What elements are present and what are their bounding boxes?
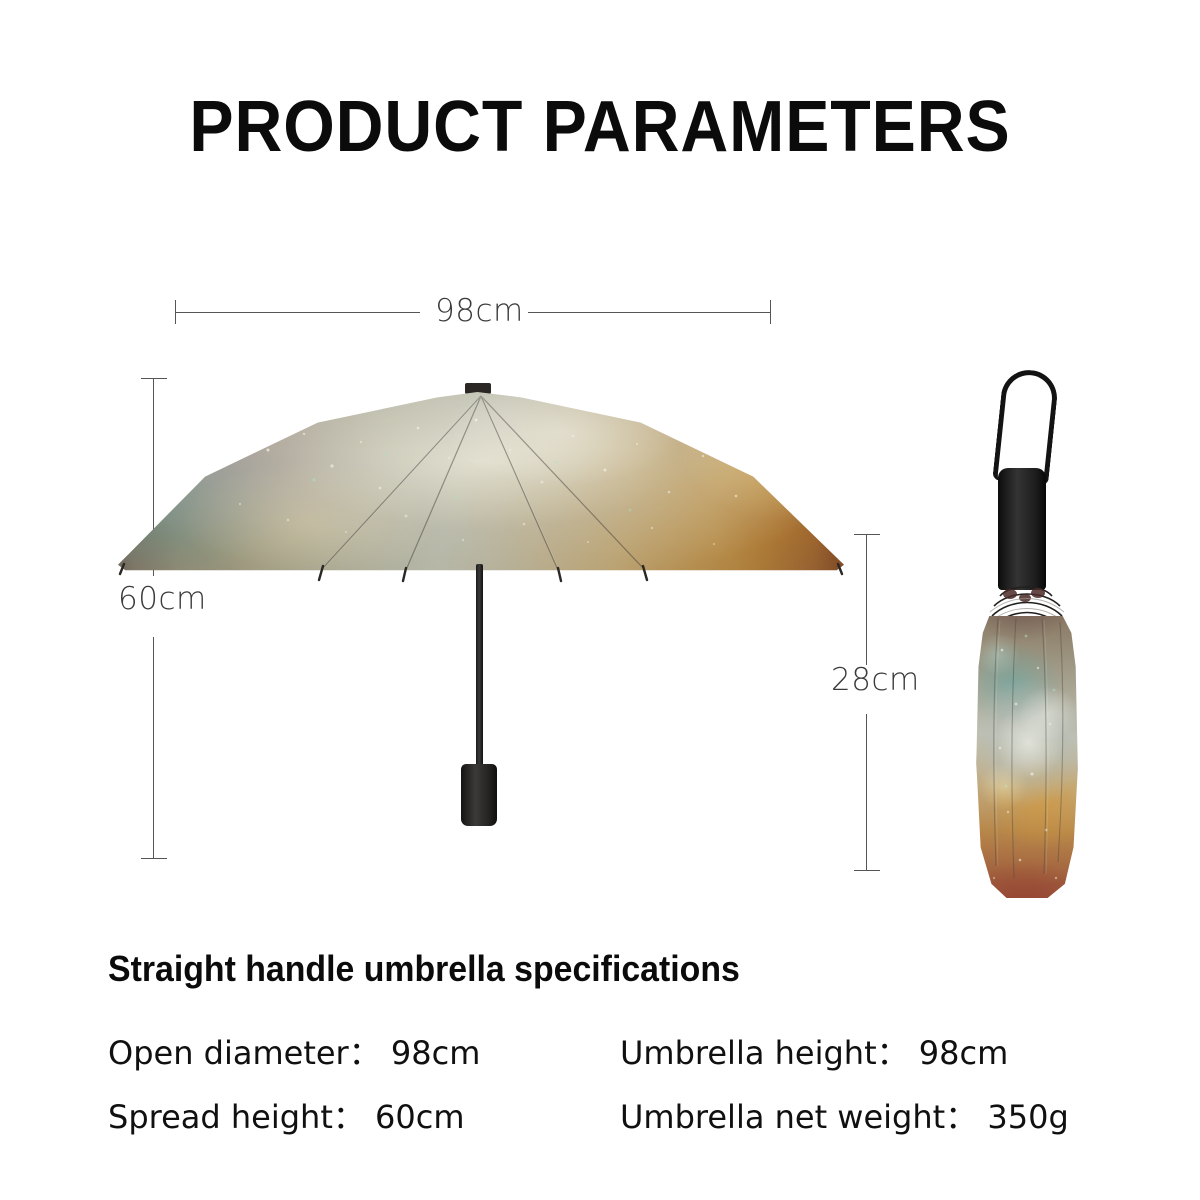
spec-heading: Straight handle umbrella specifications: [108, 948, 740, 990]
folded-fabric-creases: [972, 616, 1080, 898]
width-dim-cap-right: [770, 300, 771, 324]
width-dim-line-right: [528, 312, 770, 313]
umbrella-canopy: [118, 392, 844, 572]
height-dim-cap-bottom: [141, 858, 167, 859]
folded-umbrella-handle: [998, 468, 1046, 590]
folded-dim-label: 28cm: [831, 662, 920, 698]
spec-row-open-diameter: Open diameter： 98cm: [108, 1028, 480, 1074]
spec-row-umbrella-net-weight: Umbrella net weight： 350g: [620, 1092, 1069, 1138]
folded-umbrella-illustration: [962, 370, 1100, 900]
umbrella-handle: [461, 764, 497, 826]
height-dim-cap-top: [141, 378, 167, 379]
folded-dim-cap-top: [854, 534, 880, 535]
folded-dim-cap-bottom: [854, 870, 880, 871]
umbrella-shaft: [476, 564, 483, 776]
spec-row-umbrella-height: Umbrella height： 98cm: [620, 1028, 1008, 1074]
width-dim-line-left: [175, 312, 420, 313]
canopy-rib-tips: [118, 392, 844, 588]
spec-row-spread-height: Spread height： 60cm: [108, 1092, 465, 1138]
page-title: PRODUCT PARAMETERS: [48, 86, 1152, 168]
folded-dim-line-top: [866, 534, 867, 665]
open-umbrella-illustration: [118, 392, 844, 832]
folded-umbrella-body: [972, 616, 1080, 898]
width-dim-label: 98cm: [435, 293, 524, 329]
product-parameters-page: PRODUCT PARAMETERS 98cm 60cm 28cm: [0, 0, 1200, 1200]
folded-dim-line-bottom: [866, 714, 867, 870]
